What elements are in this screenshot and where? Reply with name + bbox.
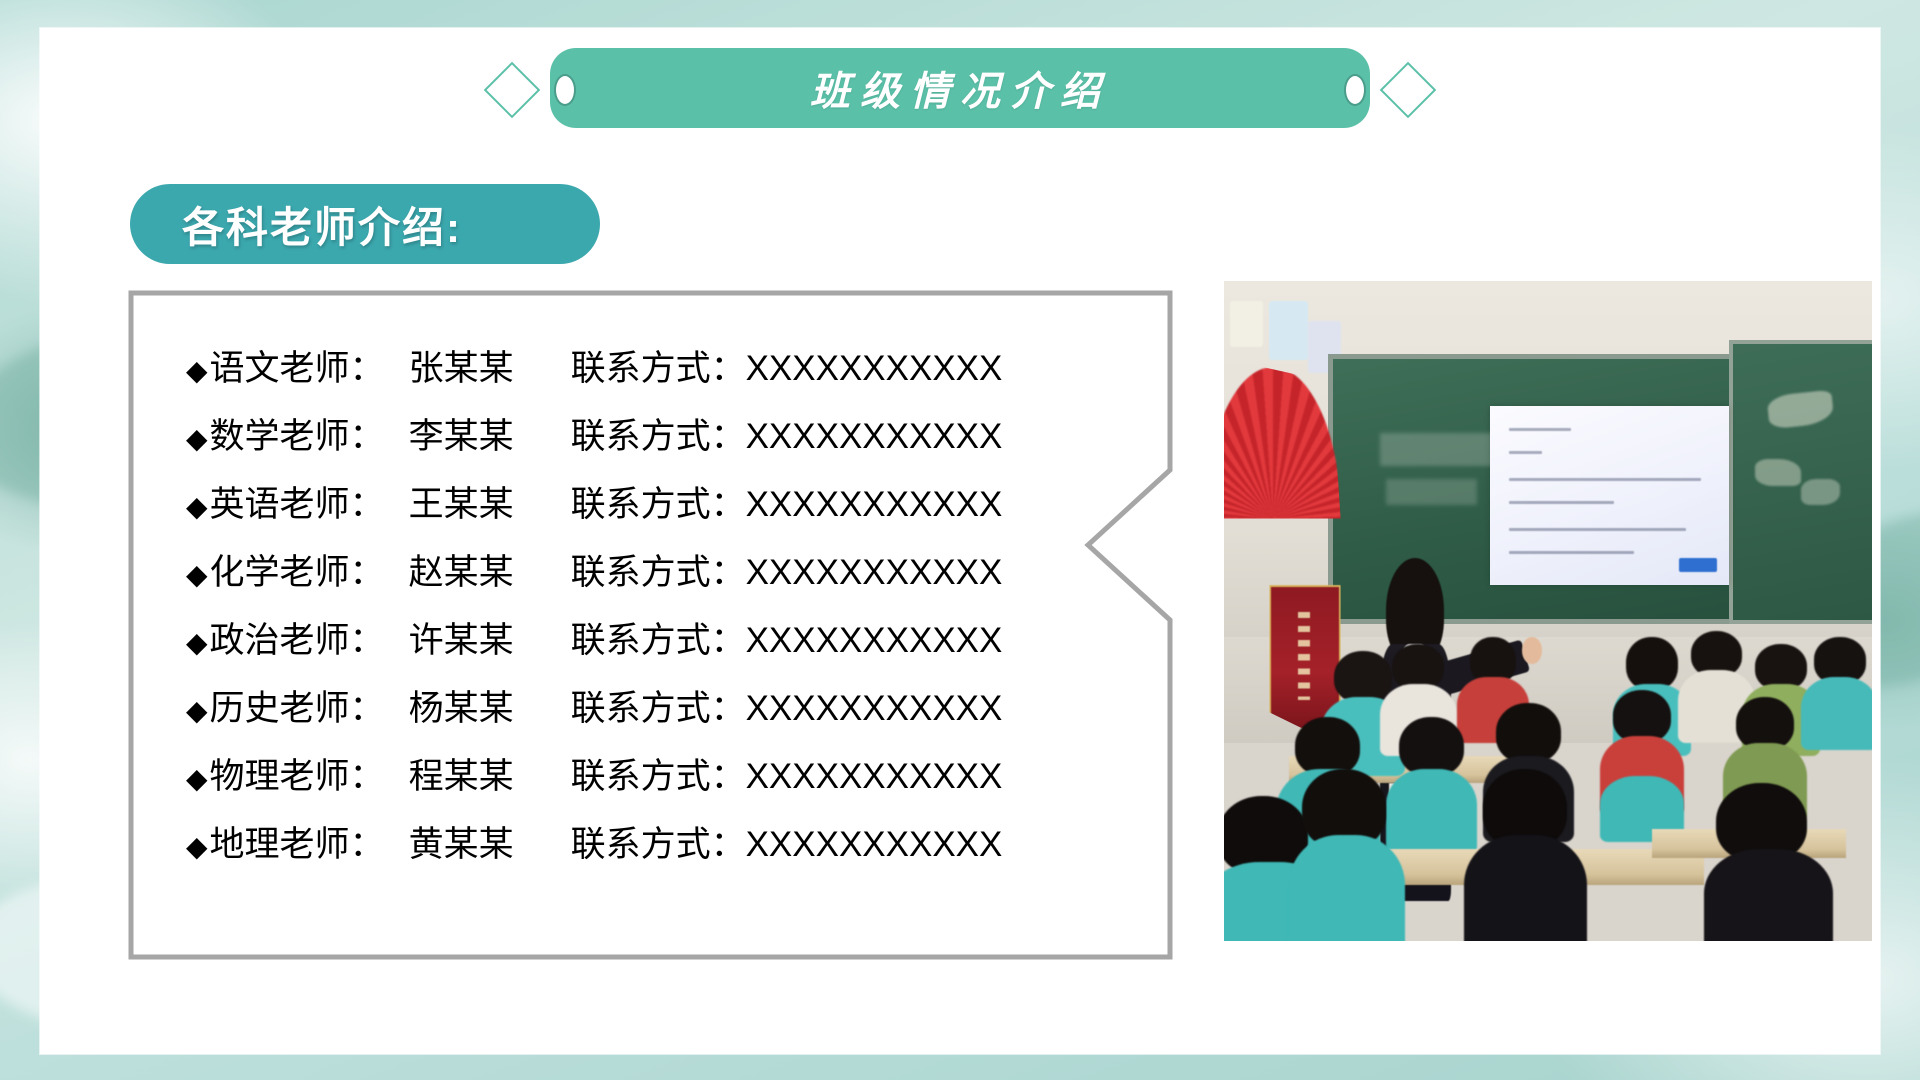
- contact-value: XXXXXXXXXXX: [746, 553, 1003, 593]
- photo-teacher-hand: [1522, 637, 1541, 663]
- teacher-name: 杨某某: [409, 680, 541, 731]
- contact-label: 联系方式：: [571, 544, 746, 595]
- contact-label: 联系方式：: [571, 408, 746, 459]
- teacher-name: 李某某: [409, 408, 541, 459]
- teacher-name: 程某某: [409, 748, 541, 799]
- contact-value: XXXXXXXXXXX: [746, 349, 1003, 389]
- contact-value: XXXXXXXXXXX: [746, 757, 1003, 797]
- teacher-subject: 语文老师：: [210, 340, 385, 391]
- contact-label: 联系方式：: [571, 612, 746, 663]
- teacher-subject: 政治老师：: [210, 612, 385, 663]
- photo-chalk-writing: [1380, 433, 1497, 466]
- diamond-decor-left-icon: [484, 62, 541, 119]
- teacher-name: 许某某: [409, 612, 541, 663]
- photo-poster: [1230, 301, 1262, 347]
- contact-label: 联系方式：: [571, 748, 746, 799]
- page-title: 班级情况介绍: [810, 59, 1110, 117]
- teacher-subject: 地理老师：: [210, 816, 385, 867]
- bullet-diamond-icon: ◆: [186, 629, 208, 657]
- bullet-diamond-icon: ◆: [186, 697, 208, 725]
- contact-value: XXXXXXXXXXX: [746, 621, 1003, 661]
- photo-student: [1626, 637, 1678, 690]
- teacher-row: ◆ 化学老师： 赵某某 联系方式： XXXXXXXXXXX: [186, 544, 1086, 612]
- photo-student: [1295, 717, 1360, 776]
- photo-chalkboard-right: [1729, 340, 1872, 624]
- photo-projection-screen: [1490, 406, 1730, 584]
- section-heading-label: 各科老师介绍:: [182, 194, 462, 255]
- bullet-diamond-icon: ◆: [186, 833, 208, 861]
- bullet-diamond-icon: ◆: [186, 425, 208, 453]
- bullet-diamond-icon: ◆: [186, 561, 208, 589]
- teacher-subject: 数学老师：: [210, 408, 385, 459]
- contact-label: 联系方式：: [571, 476, 746, 527]
- photo-student: [1736, 697, 1794, 750]
- teacher-row: ◆ 地理老师： 黄某某 联系方式： XXXXXXXXXXX: [186, 816, 1086, 884]
- teacher-row: ◆ 英语老师： 王某某 联系方式： XXXXXXXXXXX: [186, 476, 1086, 544]
- photo-chalk-writing: [1801, 479, 1840, 505]
- teacher-row: ◆ 语文老师： 张某某 联系方式： XXXXXXXXXXX: [186, 340, 1086, 408]
- contact-value: XXXXXXXXXXX: [746, 825, 1003, 865]
- photo-chalk-writing: [1755, 459, 1800, 485]
- photo-student: [1464, 835, 1587, 941]
- teacher-name: 张某某: [409, 340, 541, 391]
- teacher-row: ◆ 数学老师： 李某某 联系方式： XXXXXXXXXXX: [186, 408, 1086, 476]
- teacher-name: 黄某某: [409, 816, 541, 867]
- bullet-diamond-icon: ◆: [186, 357, 208, 385]
- photo-student: [1386, 769, 1477, 855]
- bullet-diamond-icon: ◆: [186, 493, 208, 521]
- photo-chalk-writing: [1386, 479, 1477, 505]
- teacher-list-callout: ◆ 语文老师： 张某某 联系方式： XXXXXXXXXXX ◆ 数学老师： 李某…: [128, 290, 1173, 960]
- teacher-row: ◆ 政治老师： 许某某 联系方式： XXXXXXXXXXX: [186, 612, 1086, 680]
- contact-value: XXXXXXXXXXX: [746, 417, 1003, 457]
- teacher-name: 王某某: [409, 476, 541, 527]
- contact-label: 联系方式：: [571, 816, 746, 867]
- contact-value: XXXXXXXXXXX: [746, 485, 1003, 525]
- title-banner: 班级情况介绍: [480, 48, 1440, 128]
- teacher-subject: 物理老师：: [210, 748, 385, 799]
- contact-value: XXXXXXXXXXX: [746, 689, 1003, 729]
- bullet-diamond-icon: ◆: [186, 765, 208, 793]
- classroom-photo: [1224, 281, 1872, 941]
- photo-student: [1399, 717, 1464, 776]
- slide-root: 班级情况介绍 各科老师介绍: ◆ 语文老师： 张某某 联系方式： XXXXXXX…: [0, 0, 1920, 1080]
- teacher-row: ◆ 物理老师： 程某某 联系方式： XXXXXXXXXXX: [186, 748, 1086, 816]
- teacher-row: ◆ 历史老师： 杨某某 联系方式： XXXXXXXXXXX: [186, 680, 1086, 748]
- title-banner-body: 班级情况介绍: [550, 48, 1370, 128]
- teacher-subject: 英语老师：: [210, 476, 385, 527]
- diamond-decor-right-icon: [1380, 62, 1437, 119]
- photo-student: [1704, 849, 1834, 941]
- photo-slide-button: [1679, 558, 1717, 572]
- section-heading-pill: 各科老师介绍:: [130, 184, 600, 264]
- contact-label: 联系方式：: [571, 680, 746, 731]
- photo-student: [1334, 651, 1392, 704]
- photo-student: [1289, 835, 1406, 941]
- teacher-subject: 历史老师：: [210, 680, 385, 731]
- ellipse-decor-left-icon: [554, 74, 576, 106]
- photo-student: [1801, 677, 1872, 750]
- teacher-subject: 化学老师：: [210, 544, 385, 595]
- photo-student: [1496, 703, 1561, 762]
- teacher-name: 赵某某: [409, 544, 541, 595]
- ellipse-decor-right-icon: [1344, 74, 1366, 106]
- contact-label: 联系方式：: [571, 340, 746, 391]
- photo-poster: [1269, 301, 1308, 360]
- teacher-list: ◆ 语文老师： 张某某 联系方式： XXXXXXXXXXX ◆ 数学老师： 李某…: [186, 340, 1086, 884]
- photo-student: [1613, 690, 1671, 743]
